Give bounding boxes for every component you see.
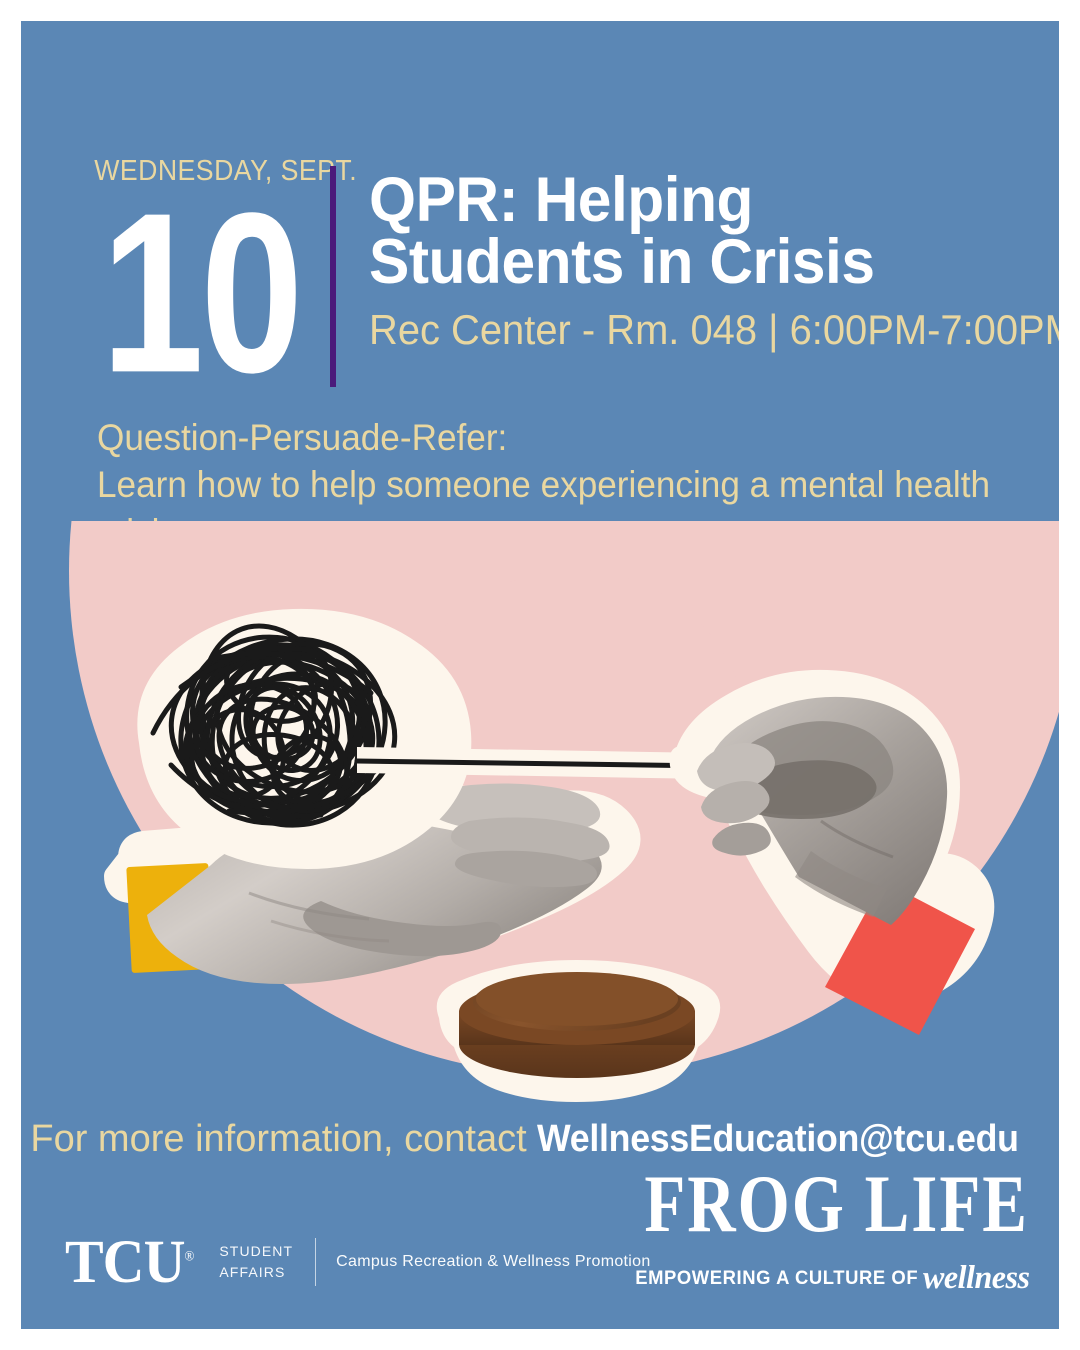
student-affairs-line-2: AFFAIRS: [219, 1262, 293, 1283]
frog-life-wordmark: FROG LIFE: [623, 1168, 1029, 1243]
footer-divider: [315, 1238, 316, 1286]
header-divider: [330, 166, 336, 387]
headline-block: QPR: Helping Students in Crisis Rec Cent…: [369, 169, 1049, 352]
footer-left-logos: TCU® STUDENT AFFAIRS Campus Recreation &…: [65, 1229, 651, 1295]
student-affairs-label: STUDENT AFFAIRS: [219, 1241, 293, 1283]
student-affairs-line-1: STUDENT: [219, 1241, 293, 1262]
tagline-script: wellness: [923, 1260, 1029, 1296]
registered-mark: ®: [184, 1248, 193, 1264]
frog-life-tagline: EMPOWERING A CULTURE OFwellness: [635, 1256, 1029, 1293]
tagline-caps: EMPOWERING A CULTURE OF: [635, 1268, 918, 1289]
event-day-number: 10: [101, 188, 299, 398]
wooden-pedestal: [437, 960, 720, 1102]
poster-panel: WEDNESDAY, SEPT. 10 QPR: Helping Student…: [21, 21, 1059, 1329]
poster-root: WEDNESDAY, SEPT. 10 QPR: Helping Student…: [0, 0, 1080, 1350]
tcu-logo-text: TCU: [65, 1227, 184, 1295]
event-venue-time: Rec Center - Rm. 048 | 6:00PM-7:00PM: [369, 308, 1015, 352]
tcu-logo: TCU®: [65, 1232, 193, 1293]
frog-life-logo: FROG LIFE EMPOWERING A CULTURE OFwellnes…: [623, 1181, 1029, 1293]
contact-prefix: For more information, contact: [30, 1118, 537, 1160]
contact-line: For more information, contact WellnessEd…: [21, 1118, 1059, 1161]
illustration-collage: [21, 521, 1059, 1121]
contact-email[interactable]: WellnessEducation@tcu.edu: [537, 1118, 1019, 1161]
department-name: Campus Recreation & Wellness Promotion: [336, 1253, 650, 1271]
event-title: QPR: Helping Students in Crisis: [369, 169, 1022, 294]
event-date-block: WEDNESDAY, SEPT. 10: [85, 157, 315, 386]
